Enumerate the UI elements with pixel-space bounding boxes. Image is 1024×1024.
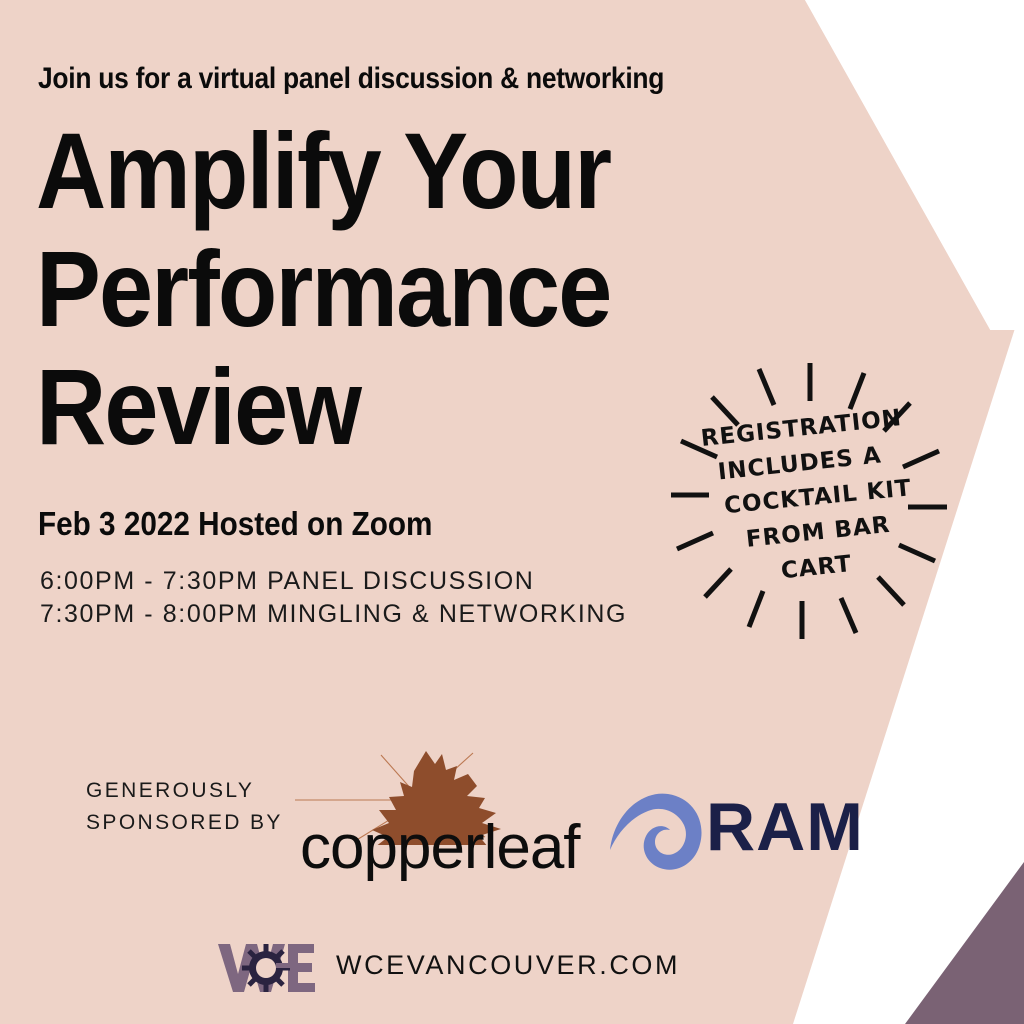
website-url: WCEVANCOUVER.COM (336, 950, 680, 981)
sponsor-label-line: SPONSORED BY (86, 807, 283, 839)
registration-badge: REGISTRATION INCLUDES A COCKTAIL KIT FRO… (665, 355, 955, 645)
title-line-2: Performance (36, 230, 666, 348)
title-line-3: Review (36, 348, 666, 466)
kicker-text: Join us for a virtual panel discussion &… (38, 62, 664, 96)
event-poster: Join us for a virtual panel discussion &… (0, 0, 1024, 1024)
schedule-item: 6:00PM - 7:30PM PANEL DISCUSSION (40, 565, 627, 598)
event-date-platform: Feb 3 2022 Hosted on Zoom (38, 505, 432, 543)
sponsor-logo-copperleaf: copperleaf (295, 745, 560, 880)
schedule-list: 6:00PM - 7:30PM PANEL DISCUSSION 7:30PM … (40, 565, 627, 631)
copperleaf-wordmark: copperleaf (300, 817, 560, 879)
page-title: Amplify Your Performance Review (36, 112, 736, 466)
badge-text: REGISTRATION INCLUDES A COCKTAIL KIT FRO… (655, 394, 964, 603)
sponsor-label: GENEROUSLY SPONSORED BY (86, 775, 283, 839)
wce-logo-icon (216, 936, 316, 998)
sponsor-label-line: GENEROUSLY (86, 775, 283, 807)
ram-wordmark: RAM (706, 790, 864, 864)
schedule-item: 7:30PM - 8:00PM MINGLING & NETWORKING (40, 598, 627, 631)
title-line-1: Amplify Your (36, 112, 666, 230)
wave-swirl-icon (608, 786, 708, 878)
sponsor-logo-ram: RAM (608, 786, 878, 878)
wce-logo (216, 936, 316, 998)
